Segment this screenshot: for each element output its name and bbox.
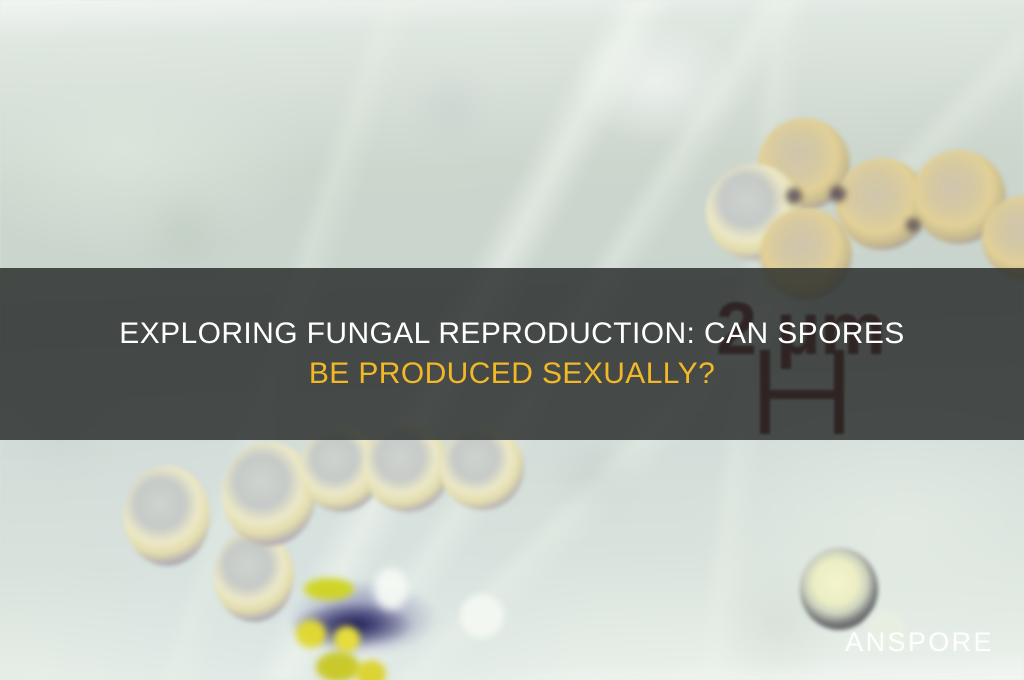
spore <box>800 548 878 630</box>
granule <box>296 620 326 648</box>
pigmented-spore-mass <box>282 556 442 680</box>
spore <box>124 466 210 566</box>
spore-junction-dot <box>906 218 920 232</box>
bright-vesicle <box>374 568 408 610</box>
title-line-2: BE PRODUCED SEXUALLY? <box>309 354 715 394</box>
title-banner: EXPLORING FUNGAL REPRODUCTION: CAN SPORE… <box>0 268 1024 440</box>
granule <box>334 626 360 652</box>
granule <box>316 652 360 680</box>
granule <box>304 578 354 600</box>
title-line-1: EXPLORING FUNGAL REPRODUCTION: CAN SPORE… <box>119 314 904 354</box>
spore-junction-dot <box>786 188 802 204</box>
screenshot-root: 2 μm EXPLORING FUNGAL REPRODUCTION: CAN … <box>0 0 1024 680</box>
bright-vesicle <box>460 594 504 638</box>
spore-junction-dot <box>830 186 846 202</box>
watermark: ANSPORE <box>845 627 994 658</box>
